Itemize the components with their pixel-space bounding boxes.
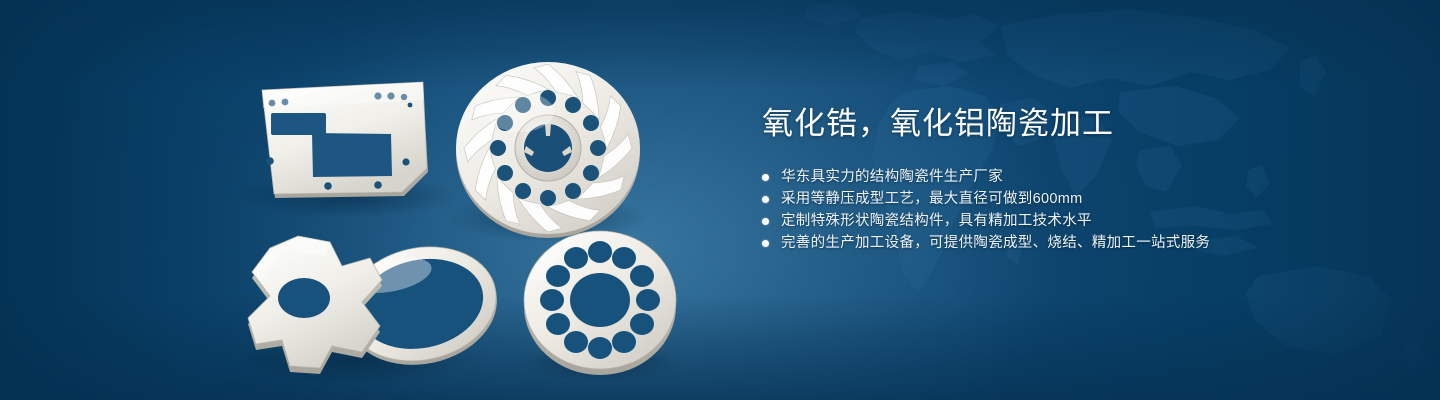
feature-text: 华东具实力的结构陶瓷件生产厂家 [781, 166, 1003, 188]
feature-text: 完善的生产加工设备，可提供陶瓷成型、烧结、精加工一站式服务 [781, 232, 1210, 254]
ceramic-products-image [0, 0, 760, 400]
ceramic-bladed-impeller [456, 60, 640, 238]
list-item: 华东具实力的结构陶瓷件生产厂家 [762, 166, 1362, 188]
bullet-dot-icon [762, 240, 769, 247]
bullet-dot-icon [762, 218, 769, 225]
banner-text-column: 氧化锆，氧化铝陶瓷加工 华东具实力的结构陶瓷件生产厂家 采用等静压成型工艺，最大… [762, 104, 1362, 254]
feature-text: 采用等静压成型工艺，最大直径可做到600mm [781, 188, 1082, 210]
hero-banner: 氧化锆，氧化铝陶瓷加工 华东具实力的结构陶瓷件生产厂家 采用等静压成型工艺，最大… [0, 0, 1440, 400]
bullet-dot-icon [762, 174, 769, 181]
feature-list: 华东具实力的结构陶瓷件生产厂家 采用等静压成型工艺，最大直径可做到600mm 定… [762, 166, 1362, 254]
list-item: 完善的生产加工设备，可提供陶瓷成型、烧结、精加工一站式服务 [762, 232, 1362, 254]
bullet-dot-icon [762, 196, 769, 203]
feature-text: 定制特殊形状陶瓷结构件，具有精加工技术水平 [781, 210, 1092, 232]
page-title: 氧化锆，氧化铝陶瓷加工 [762, 104, 1362, 144]
ceramic-perforated-disc [524, 231, 676, 375]
list-item: 采用等静压成型工艺，最大直径可做到600mm [762, 188, 1362, 210]
list-item: 定制特殊形状陶瓷结构件，具有精加工技术水平 [762, 210, 1362, 232]
ceramic-mounting-plate [262, 82, 428, 198]
